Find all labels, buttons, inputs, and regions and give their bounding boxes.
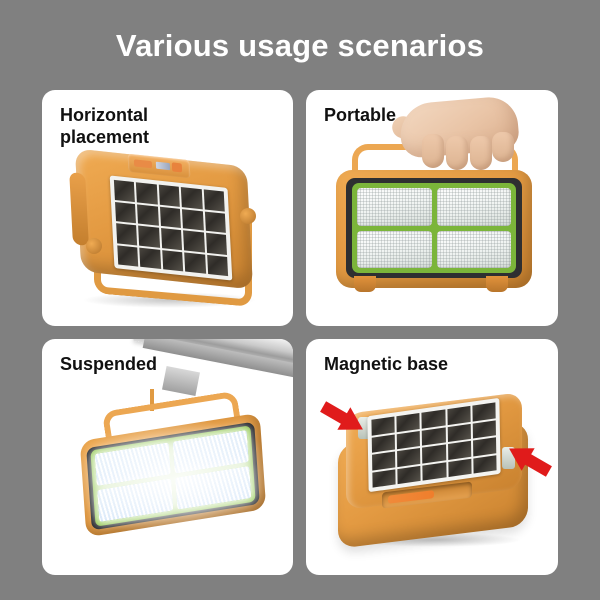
led-panel-grid bbox=[352, 183, 516, 273]
product-feature-image: Various usage scenarios bbox=[0, 0, 600, 600]
switch-knob bbox=[388, 490, 434, 504]
scenario-label: Portable bbox=[324, 104, 396, 126]
solar-cell-grid bbox=[371, 402, 496, 487]
scenario-card-portable[interactable]: Portable bbox=[306, 90, 558, 326]
scenario-card-magnetic-base[interactable]: Magnetic base bbox=[306, 339, 558, 575]
scenario-grid: Horizontal placement bbox=[42, 90, 558, 575]
finger bbox=[492, 132, 514, 162]
stand-pivot-left bbox=[86, 238, 102, 254]
scenario-card-horizontal-placement[interactable]: Horizontal placement bbox=[42, 90, 293, 326]
led-panel bbox=[97, 478, 173, 522]
scenario-card-suspended[interactable]: Suspended bbox=[42, 339, 293, 575]
scenario-label: Suspended bbox=[60, 353, 157, 375]
mode-button bbox=[172, 162, 182, 172]
scenario-label: Magnetic base bbox=[324, 353, 448, 375]
battery-indicator bbox=[156, 162, 170, 171]
finger bbox=[446, 136, 468, 170]
solar-panel bbox=[110, 175, 233, 280]
foot-left bbox=[354, 276, 376, 292]
led-panel bbox=[357, 231, 432, 269]
led-panel bbox=[357, 188, 432, 226]
finger bbox=[470, 136, 492, 170]
hand bbox=[378, 100, 528, 178]
stand-pivot-right bbox=[240, 208, 256, 224]
solar-cell-grid bbox=[114, 180, 228, 276]
rail-hook-block bbox=[162, 366, 200, 396]
finger bbox=[422, 134, 444, 168]
power-button bbox=[134, 159, 152, 168]
foot-right bbox=[486, 276, 508, 292]
page-title: Various usage scenarios bbox=[0, 26, 600, 66]
led-panel bbox=[437, 231, 512, 269]
led-panel bbox=[175, 466, 251, 510]
scenario-label: Horizontal placement bbox=[60, 104, 149, 148]
led-panel bbox=[437, 188, 512, 226]
